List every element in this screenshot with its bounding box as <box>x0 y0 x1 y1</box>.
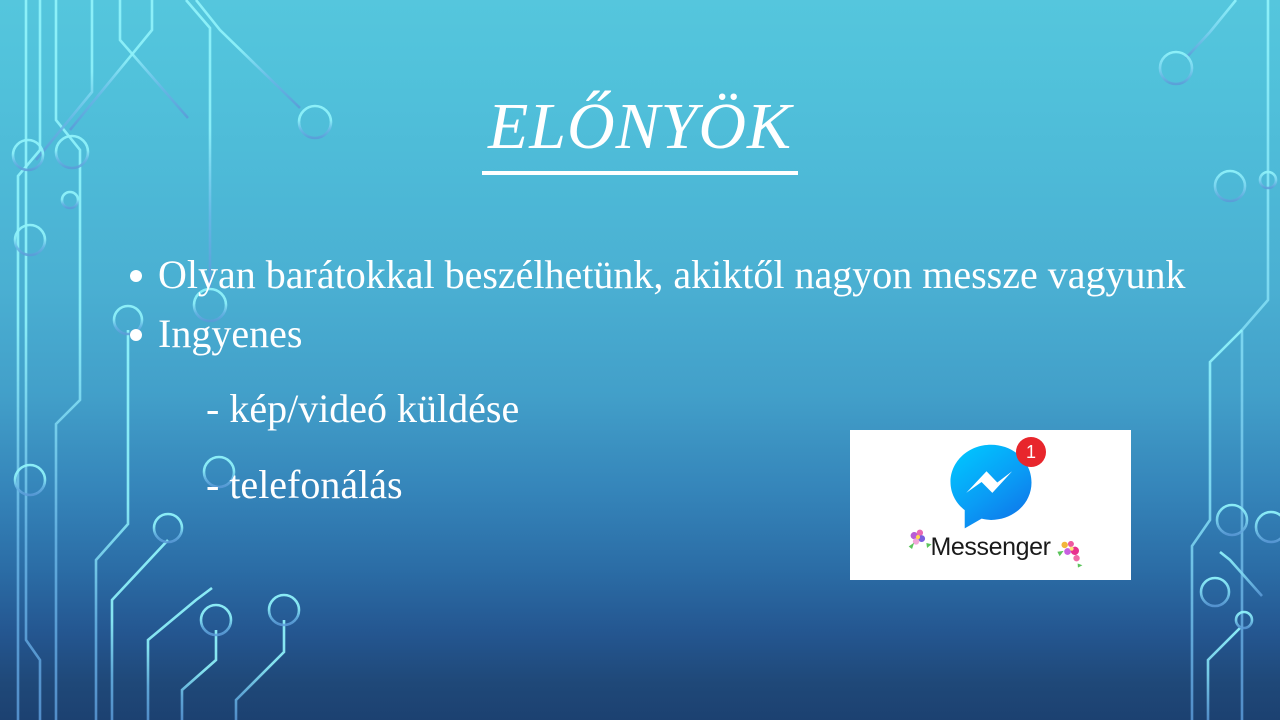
sub-bullet-text: - kép/videó küldése <box>206 386 519 431</box>
bullet-dot-icon <box>130 329 142 341</box>
presentation-slide: ELŐNYÖK Olyan barátokkal beszélhetünk, a… <box>0 0 1280 720</box>
messenger-bubble-icon: 1 <box>946 442 1036 532</box>
bullet-text: Olyan barátokkal beszélhetünk, akiktől n… <box>158 248 1188 301</box>
bullet-dot-icon <box>130 270 142 282</box>
list-item: Ingyenes <box>130 307 1200 360</box>
list-item: - kép/videó küldése <box>206 382 1200 435</box>
sub-bullet-text: - telefonálás <box>206 462 403 507</box>
notification-badge: 1 <box>1016 437 1046 467</box>
slide-title: ELŐNYÖK <box>482 92 798 175</box>
messenger-logo-image: 1 <box>850 430 1131 580</box>
messenger-wordmark: Messenger <box>850 533 1131 562</box>
list-item: Olyan barátokkal beszélhetünk, akiktől n… <box>130 248 1200 301</box>
bullet-text: Ingyenes <box>158 307 1173 360</box>
slide-title-block: ELŐNYÖK <box>0 92 1280 175</box>
